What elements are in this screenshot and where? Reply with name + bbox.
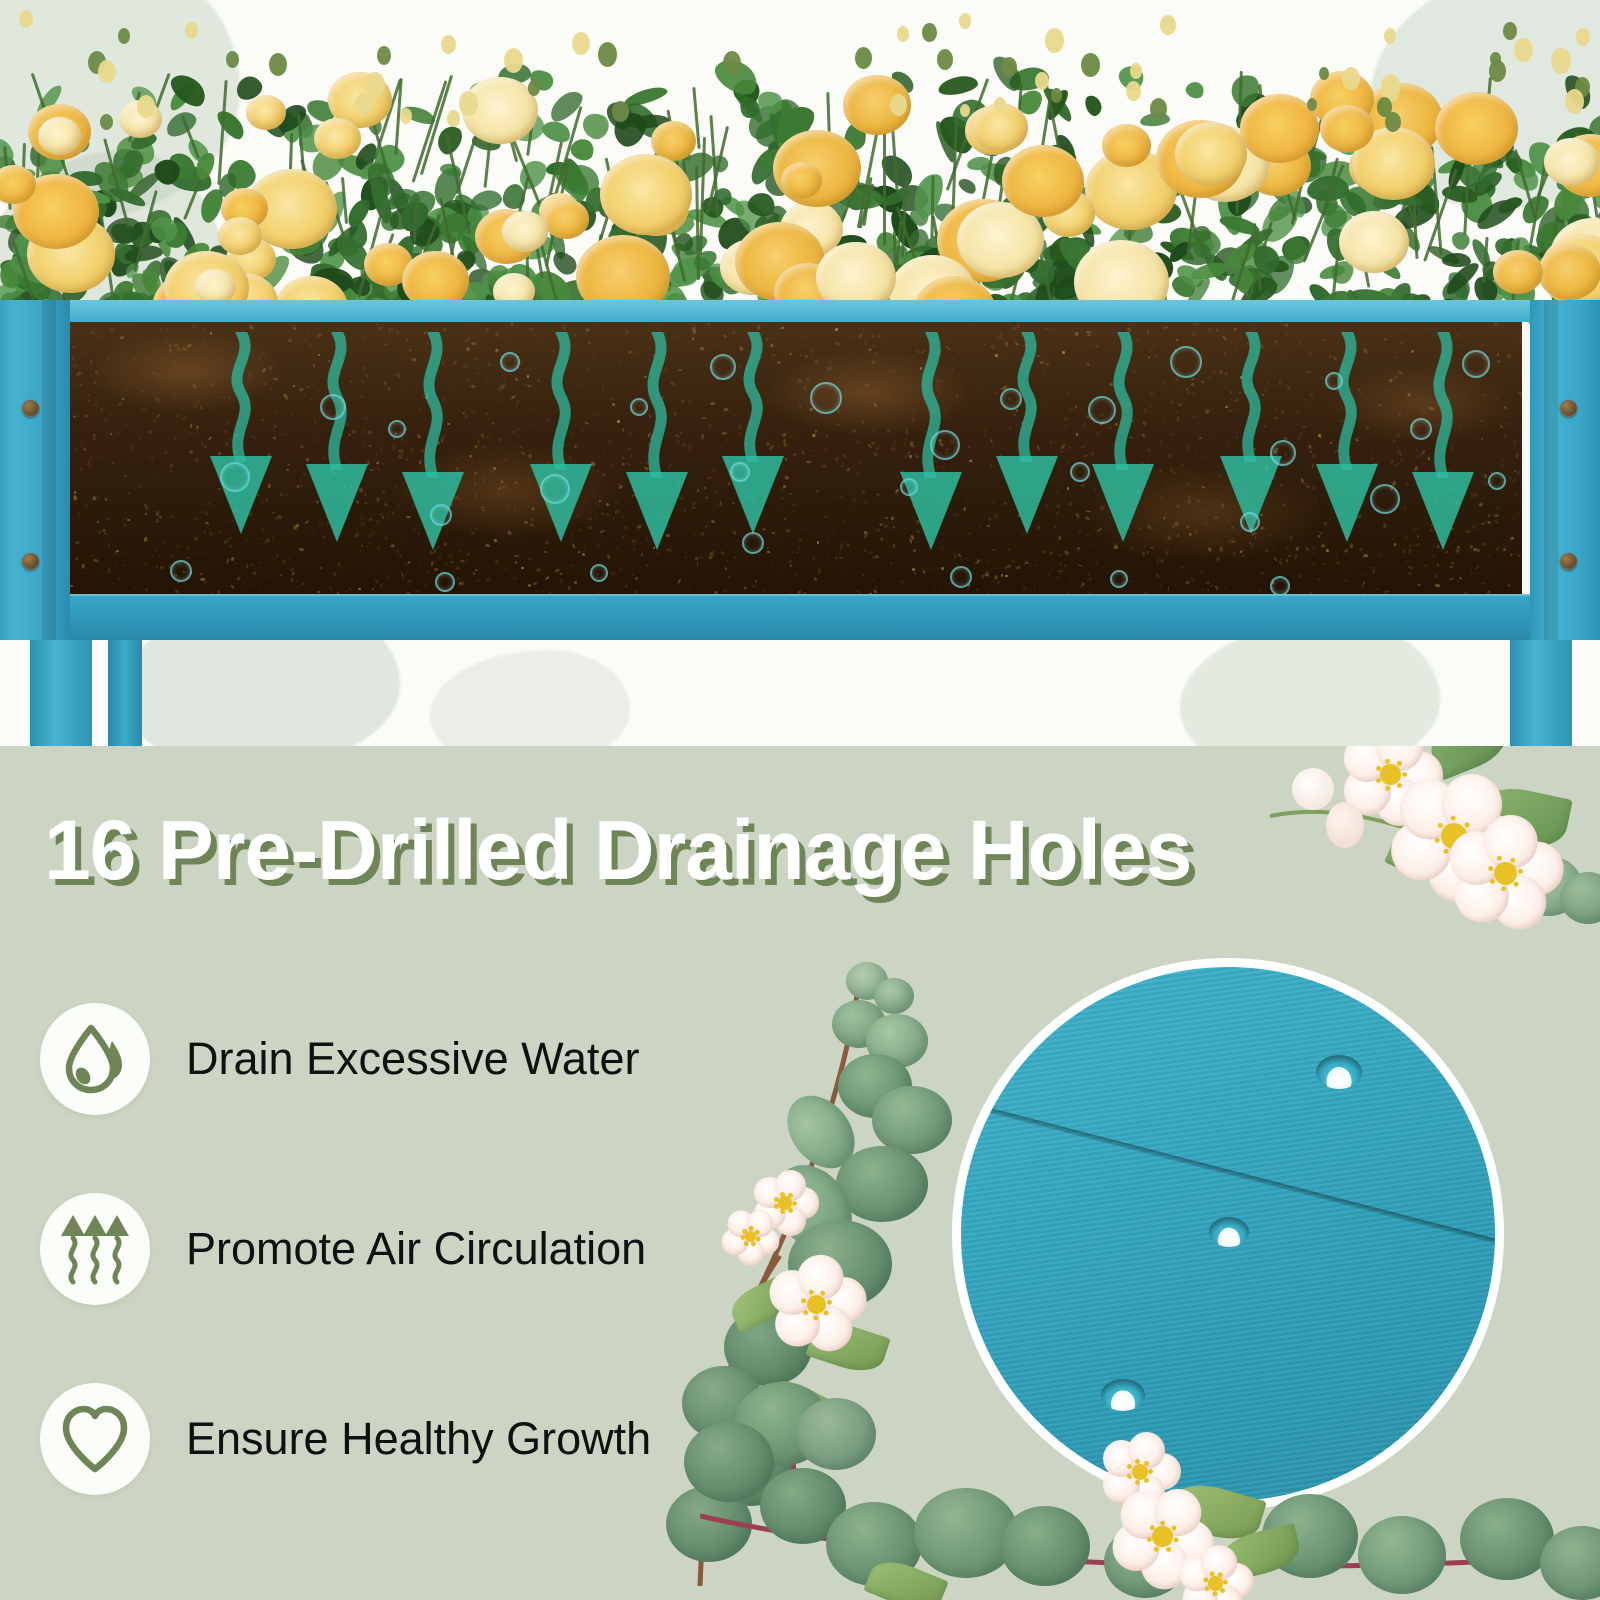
planter-bottom-rail [0, 594, 1600, 640]
water-bubble [630, 398, 648, 416]
feature-list: Drain Excessive Water [40, 964, 740, 1534]
water-bubble [220, 462, 250, 492]
rose-bloom [246, 95, 286, 130]
rose-bloom [1175, 122, 1247, 186]
water-bubble [1070, 462, 1090, 482]
apple-blossom [1173, 1541, 1257, 1600]
apple-blossom [1441, 809, 1570, 938]
water-bubble [950, 566, 972, 588]
rose-bloom [781, 162, 822, 199]
page-title: 16 Pre-Drilled Drainage Holes [44, 808, 1191, 892]
rose-bloom [1320, 105, 1374, 152]
yellow-rose-plants [0, 0, 1600, 330]
water-bubble [1110, 570, 1128, 588]
water-bubble [170, 560, 192, 582]
rose-bloom [218, 217, 262, 255]
drainage-arrow [1092, 332, 1154, 552]
water-bubble [1000, 388, 1022, 410]
planter-left-leg [30, 640, 92, 746]
drainage-arrow [530, 332, 592, 552]
eucalyptus-leaf [1000, 1506, 1090, 1586]
water-bubble [900, 478, 918, 496]
apple-blossom [760, 1248, 872, 1360]
screw-icon [22, 553, 39, 570]
water-bubble [1488, 472, 1506, 490]
water-bubble [590, 564, 608, 582]
water-bubble [1088, 396, 1116, 424]
drainage-hole [1209, 1217, 1249, 1247]
water-bubble [1240, 512, 1260, 532]
water-bubble [1170, 346, 1202, 378]
water-bubble [1270, 576, 1290, 594]
drainage-arrow [626, 332, 688, 552]
eucalyptus-leaf [684, 1422, 774, 1502]
feature-item-air-circulation: Promote Air Circulation [40, 1154, 740, 1344]
water-bubble [1462, 350, 1490, 378]
product-feature-image: 16 Pre-Drilled Drainage Holes Drain Exce… [0, 0, 1600, 1600]
water-bubble [1270, 440, 1296, 466]
rose-bloom [543, 199, 589, 239]
screw-icon [1560, 553, 1577, 570]
feature-item-drain-water: Drain Excessive Water [40, 964, 740, 1154]
watercolor-eucalyptus-branch-bottom [700, 1376, 1600, 1600]
water-bubble [810, 382, 842, 414]
rose-bloom [600, 154, 692, 235]
rose-bloom [314, 118, 361, 159]
eucalyptus-leaf [1358, 1516, 1446, 1594]
rose-bloom [1544, 138, 1599, 186]
heart-icon [40, 1383, 150, 1495]
feature-label: Ensure Healthy Growth [186, 1413, 651, 1465]
drainage-hole [1316, 1055, 1362, 1089]
planter-left-post [0, 300, 70, 640]
rose-bloom [1002, 145, 1084, 217]
rose-bloom [1435, 92, 1518, 165]
info-panel: 16 Pre-Drilled Drainage Holes Drain Exce… [0, 746, 1600, 1600]
water-bubble [500, 352, 520, 372]
feature-item-healthy-growth: Ensure Healthy Growth [40, 1344, 740, 1534]
water-bubble [1325, 372, 1343, 390]
water-bubble [320, 394, 346, 420]
feature-label: Drain Excessive Water [186, 1033, 639, 1085]
feature-label: Promote Air Circulation [186, 1223, 646, 1275]
water-droplet-icon [40, 1003, 150, 1115]
soil-texture [70, 322, 1522, 594]
rose-bloom [502, 211, 548, 252]
water-bubble [540, 474, 570, 504]
water-bubble [730, 462, 750, 482]
rose-bloom [38, 117, 81, 155]
water-bubble [1370, 484, 1400, 514]
planter-right-leg [1510, 640, 1572, 746]
water-bubble [710, 354, 736, 380]
water-bubble [742, 532, 764, 554]
rose-bloom [1493, 250, 1543, 294]
water-bubble [930, 430, 960, 460]
product-photo-panel [0, 0, 1600, 746]
screw-icon [22, 400, 39, 417]
drainage-arrow [210, 332, 272, 552]
drainage-arrow [1316, 332, 1378, 552]
drainage-arrow [306, 332, 368, 552]
planter-right-post [1530, 300, 1600, 640]
rose-bloom [1339, 211, 1409, 273]
water-bubble [388, 420, 406, 438]
rose-bloom [1102, 124, 1151, 167]
raised-planter-box [0, 300, 1600, 640]
screw-icon [1560, 400, 1577, 417]
soil-cross-section [70, 322, 1522, 594]
planter-inner-left-leg [108, 640, 142, 746]
eucalyptus-leaf [796, 1398, 876, 1470]
watercolor-apple-blossom-decor [1230, 746, 1600, 956]
water-bubble [430, 504, 452, 526]
water-bubble [1410, 418, 1432, 440]
drainage-arrow [996, 332, 1058, 552]
rose-bloom [1538, 244, 1600, 300]
water-bubble [435, 572, 455, 592]
eucalyptus-leaf [872, 1086, 952, 1154]
planter-top-rail [0, 300, 1600, 322]
air-circulation-icon [40, 1193, 150, 1305]
